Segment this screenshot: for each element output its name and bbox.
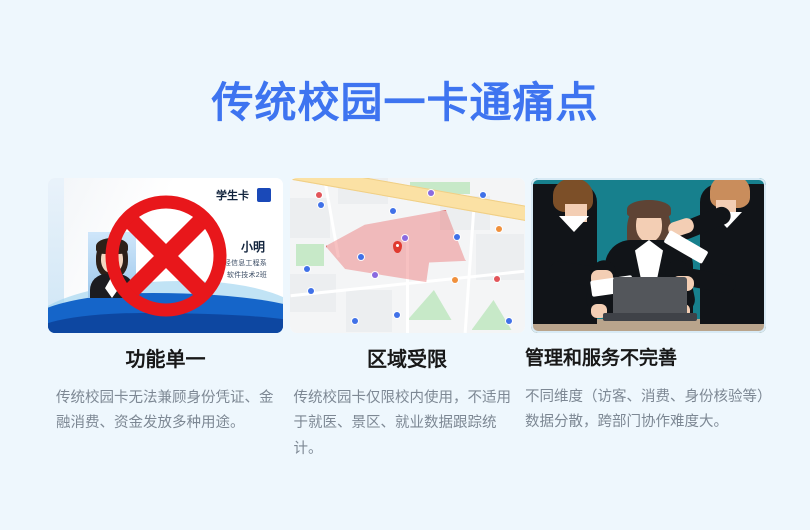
map-poi-icon (402, 235, 408, 241)
slide-root: 传统校园一卡通痛点 学生卡 (0, 0, 810, 530)
card-image-row: 学生卡 小明 23经信息工程系 软件技术2班 (48, 178, 766, 333)
card-1-heading: 功能单一 (48, 348, 283, 372)
map-block (290, 198, 330, 238)
card-1: 学生卡 小明 23经信息工程系 软件技术2班 (48, 178, 283, 333)
map-poi-icon (316, 192, 322, 198)
map-poi-icon (308, 288, 314, 294)
map-block (346, 290, 392, 332)
image-frame (531, 178, 766, 333)
map-poi-icon (318, 202, 324, 208)
map-poi-icon (494, 276, 500, 282)
map-park (296, 244, 324, 266)
prohibition-cross-icon (102, 192, 230, 320)
caption-3: 管理和服务不完善 不同维度（访客、消费、身份核验等）数据分散，跨部门协作难度大。 (531, 348, 766, 462)
card-caption-row: 功能单一 传统校园卡无法兼顾身份凭证、金融消费、资金发放多种用途。 区域受限 传… (48, 348, 766, 462)
map-poi-icon (372, 272, 378, 278)
office-illustration (531, 178, 766, 333)
card-2-image (290, 178, 525, 333)
map-poi-icon (452, 277, 458, 283)
card-2-body: 传统校园卡仅限校内使用，不适用于就医、景区、就业数据跟踪统计。 (290, 386, 525, 462)
map-location-pin-icon (393, 241, 402, 253)
student-class: 软件技术2班 (227, 270, 267, 280)
card-3-body: 不同维度（访客、消费、身份核验等）数据分散，跨部门协作难度大。 (525, 385, 766, 436)
card-1-body: 传统校园卡无法兼顾身份凭证、金融消费、资金发放多种用途。 (48, 386, 283, 437)
card-3-image (531, 178, 766, 333)
map-poi-icon (394, 312, 400, 318)
card-3-heading: 管理和服务不完善 (525, 348, 766, 371)
card-3 (531, 178, 766, 333)
map-poi-icon (506, 318, 512, 324)
map-poi-icon (358, 254, 364, 260)
card-1-image: 学生卡 小明 23经信息工程系 软件技术2班 (48, 178, 283, 333)
card-2-heading: 区域受限 (290, 348, 525, 372)
school-logo-icon (257, 188, 271, 202)
map-poi-icon (390, 208, 396, 214)
map-poi-icon (352, 318, 358, 324)
map-poi-icon (428, 190, 434, 196)
map-poi-icon (304, 266, 310, 272)
caption-1: 功能单一 传统校园卡无法兼顾身份凭证、金融消费、资金发放多种用途。 (48, 348, 283, 462)
map-park (472, 300, 512, 330)
campus-map-graphic (290, 178, 525, 333)
map-poi-icon (480, 192, 486, 198)
map-poi-icon (496, 226, 502, 232)
student-name: 小明 (241, 238, 265, 255)
caption-2: 区域受限 传统校园卡仅限校内使用，不适用于就医、景区、就业数据跟踪统计。 (290, 348, 525, 462)
page-title: 传统校园一卡通痛点 (0, 80, 810, 126)
card-2 (290, 178, 525, 333)
map-poi-icon (454, 234, 460, 240)
map-park (408, 290, 452, 320)
